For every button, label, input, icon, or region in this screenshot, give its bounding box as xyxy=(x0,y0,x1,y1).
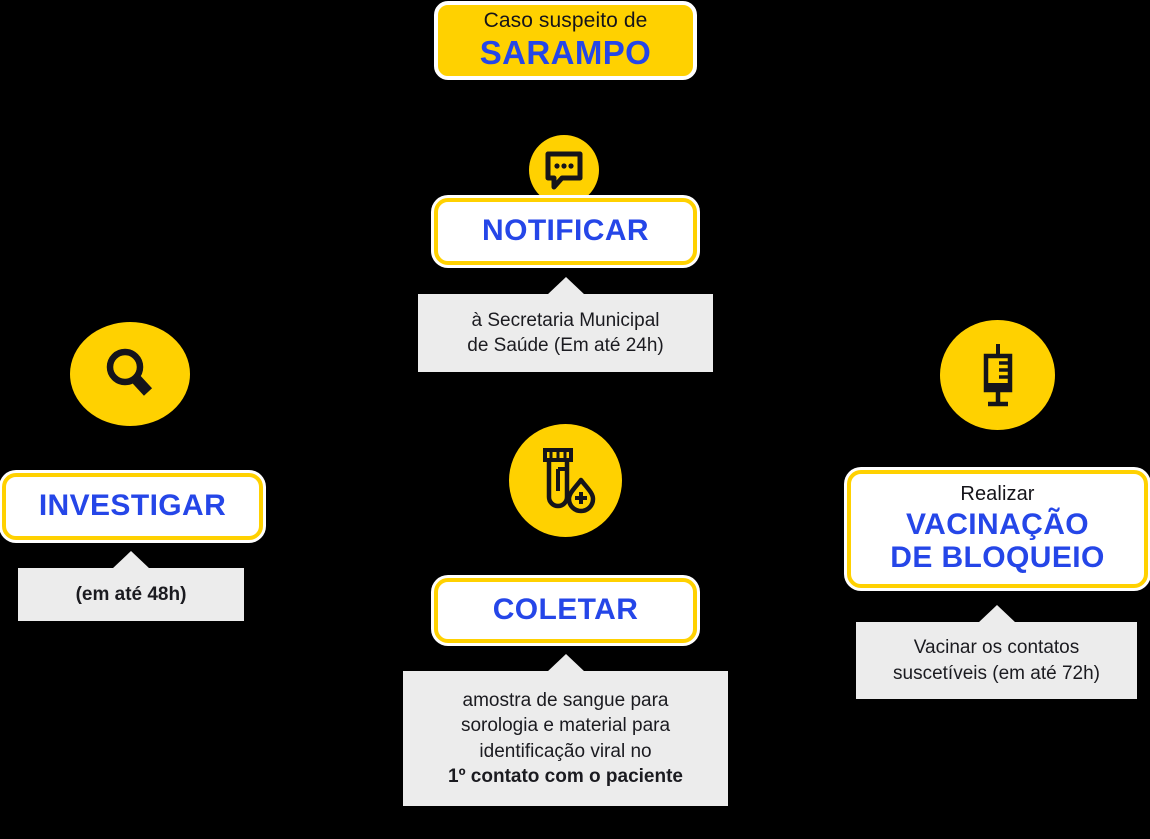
caption-pointer-icon xyxy=(112,551,150,569)
node-caso-suspeito-title: SARAMPO xyxy=(480,35,651,71)
caption-line: suscetíveis (em até 72h) xyxy=(893,661,1100,686)
caption-pointer-icon xyxy=(547,654,585,672)
caption-coletar: amostra de sangue para sorologia e mater… xyxy=(403,671,728,806)
node-vacinacao-title-line2: DE BLOQUEIO xyxy=(890,542,1104,574)
node-coletar[interactable]: COLETAR xyxy=(434,578,697,643)
caption-line: à Secretaria Municipal xyxy=(472,308,660,333)
node-coletar-title: COLETAR xyxy=(493,594,639,626)
node-investigar[interactable]: INVESTIGAR xyxy=(2,473,263,540)
caption-investigar: (em até 48h) xyxy=(18,568,244,621)
caption-line: amostra de sangue para xyxy=(463,688,669,713)
caption-line: Vacinar os contatos xyxy=(914,635,1079,660)
test-tube-blood-drop-icon xyxy=(509,424,622,537)
node-caso-suspeito[interactable]: Caso suspeito de SARAMPO xyxy=(434,1,697,80)
caption-line: de Saúde (Em até 24h) xyxy=(467,333,663,358)
chat-bubble-icon xyxy=(529,135,599,205)
magnifying-glass-icon xyxy=(70,322,190,426)
caption-line: (em até 48h) xyxy=(76,582,187,607)
caption-line: sorologia e material para xyxy=(461,713,670,738)
caption-line: 1º contato com o paciente xyxy=(448,764,683,789)
node-investigar-title: INVESTIGAR xyxy=(39,490,226,522)
caption-pointer-icon xyxy=(978,605,1016,623)
node-notificar[interactable]: NOTIFICAR xyxy=(434,198,697,265)
caption-vacinacao: Vacinar os contatos suscetíveis (em até … xyxy=(856,622,1137,699)
flowchart-canvas: Caso suspeito de SARAMPO NOTIFICAR à Sec… xyxy=(0,0,1150,839)
caption-line: identificação viral no xyxy=(479,739,651,764)
node-notificar-title: NOTIFICAR xyxy=(482,215,649,247)
caption-pointer-icon xyxy=(547,277,585,295)
node-vacinacao-bloqueio[interactable]: Realizar VACINAÇÃO DE BLOQUEIO xyxy=(847,470,1148,588)
caption-notificar: à Secretaria Municipal de Saúde (Em até … xyxy=(418,294,713,372)
node-caso-suspeito-subtitle: Caso suspeito de xyxy=(484,10,648,33)
node-vacinacao-subtitle: Realizar xyxy=(960,484,1034,506)
node-vacinacao-title-line1: VACINAÇÃO xyxy=(906,509,1089,541)
syringe-icon xyxy=(940,320,1055,430)
